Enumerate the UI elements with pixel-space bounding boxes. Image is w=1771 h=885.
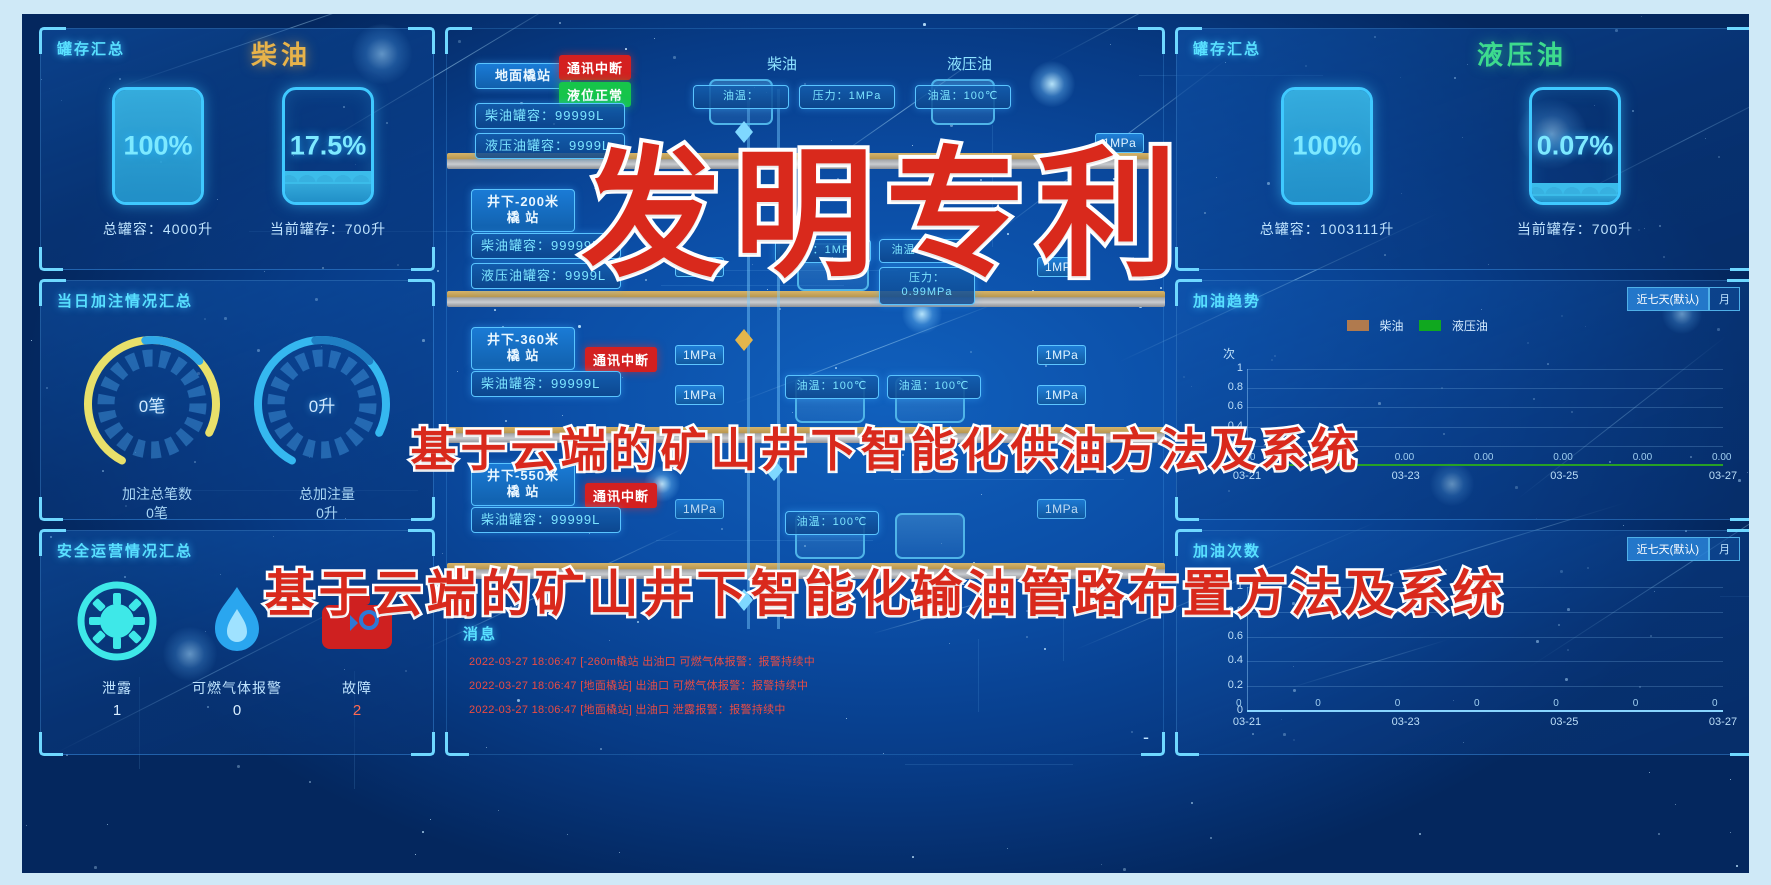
panel-diesel-tank-summary: 罐存汇总 柴油 100% 总罐容：4000升 17.5% 当前罐存：700升 <box>40 28 434 270</box>
gauge-diesel-total: 100% 总罐容：4000升 <box>83 87 233 239</box>
legend-swatch-diesel <box>1347 320 1369 331</box>
ring-caption-refuel-volume: 总加注量 0升 <box>247 485 407 523</box>
tank-graphic-diesel-total: 100% <box>112 87 204 205</box>
pressure-tag-6: 1MPa <box>675 385 724 405</box>
chart-point-label: 0 <box>1553 698 1559 709</box>
pressure-tag-9: 1MPa <box>1037 499 1086 519</box>
ring-graphic-refuel-count: 0笔 <box>77 329 227 479</box>
ring-caption-line1: 加注总笔数 <box>77 485 237 504</box>
range-option-seven-days-2[interactable]: 近七天(默认) <box>1627 537 1709 561</box>
tank-percent-diesel-current: 17.5% <box>285 131 371 162</box>
ring-caption-line1: 总加注量 <box>247 485 407 504</box>
watermark-patent-line2: 基于云端的矿山井下智能化输油管路布置方法及系统 <box>265 554 1507 626</box>
ring-value-refuel-count: 0笔 <box>77 329 227 479</box>
minimize-button[interactable]: - <box>1143 728 1149 746</box>
chart-point-label: 0 <box>1633 698 1639 709</box>
ring-caption-refuel-count: 加注总笔数 0笔 <box>77 485 237 523</box>
readout-360m-temp-a: 油温：100℃ <box>785 375 879 399</box>
dashboard-screen: 罐存汇总 柴油 100% 总罐容：4000升 17.5% 当前罐存：700升 当… <box>22 14 1749 873</box>
safety-item-leak[interactable]: 泄露 1 <box>57 579 177 719</box>
chart-point-label: 0 <box>1315 698 1321 709</box>
station-tank-360m-diesel: 柴油罐容：99999L <box>471 371 621 397</box>
message-line-1: 2022-03-27 18:06:47 [-260m橇站 出油口 可燃气体报警：… <box>469 653 815 669</box>
tank-graphic-diesel-current: 17.5% <box>282 87 374 205</box>
watermark-patent-main: 发明专利 <box>581 102 1189 304</box>
panel-today-refuel-summary: 当日加注情况汇总 0笔 加注总笔数 0笔 <box>40 280 434 520</box>
range-selector-trend[interactable]: 近七天(默认) 月 <box>1627 287 1740 311</box>
station-name-200m[interactable]: 井下-200米 橇 站 <box>471 189 575 232</box>
flow-label-hydraulic: 液压油 <box>947 53 992 74</box>
safety-value-gas-alarm: 0 <box>177 702 297 719</box>
chart-point-label: 0.00 <box>1395 452 1414 463</box>
gauge-refuel-count: 0笔 加注总笔数 0笔 <box>77 329 237 523</box>
tank-caption-hydraulic-total: 总罐容：1003111升 <box>1237 219 1417 239</box>
safety-label-gas-alarm: 可燃气体报警 <box>177 678 297 698</box>
tank-caption-diesel-total: 总罐容：4000升 <box>83 219 233 239</box>
safety-value-fault: 2 <box>297 702 417 719</box>
gauge-refuel-volume: 0升 总加注量 0升 <box>247 329 407 523</box>
range-option-month[interactable]: 月 <box>1709 287 1740 311</box>
tank-percent-diesel-total: 100% <box>115 131 201 162</box>
legend-item-diesel: 柴油 <box>1347 317 1403 335</box>
station-name-surface[interactable]: 地面橇站 <box>475 63 571 89</box>
safety-label-fault: 故障 <box>297 678 417 698</box>
chart-point-label: 0.00 <box>1633 452 1652 463</box>
chart-y-unit-trend: 次 <box>1223 345 1235 362</box>
chart-point-label: 0.00 <box>1553 452 1572 463</box>
chart-point-label: 0 <box>1474 698 1480 709</box>
pressure-tag-8: 1MPa <box>675 499 724 519</box>
legend-label-hydraulic: 液压油 <box>1452 319 1488 333</box>
station-badge-360m-comm: 通讯中断 <box>585 347 657 372</box>
panel-title-hydraulic-summary: 罐存汇总 <box>1193 38 1261 59</box>
ring-caption-line2: 0笔 <box>77 504 237 523</box>
chart-xtick-label: 03-21 <box>1225 716 1269 728</box>
station-badge-surface-comm: 通讯中断 <box>559 55 631 80</box>
station-name-360m[interactable]: 井下-360米 橇 站 <box>471 327 575 370</box>
tank-graphic-hydraulic-total: 100% <box>1281 87 1373 205</box>
chart-point-label: 0.00 <box>1712 452 1731 463</box>
legend-item-hydraulic: 液压油 <box>1419 317 1487 335</box>
chart-point-label: 0 <box>1712 698 1718 709</box>
tank-caption-diesel-current: 当前罐存：700升 <box>253 219 403 239</box>
tank-percent-hydraulic-current: 0.07% <box>1532 131 1618 162</box>
chart-point-label: 0 <box>1236 698 1242 709</box>
chart-xtick-label: 03-25 <box>1542 716 1586 728</box>
range-option-seven-days[interactable]: 近七天(默认) <box>1627 287 1709 311</box>
pressure-tag-4: 1MPa <box>675 345 724 365</box>
chart-xtick-label: 03-27 <box>1701 716 1745 728</box>
chart-xtick-label: 03-27 <box>1701 470 1745 482</box>
gear-leak-icon <box>75 579 159 663</box>
panel-title-today-refuel: 当日加注情况汇总 <box>57 290 193 311</box>
panel-title-diesel-summary: 罐存汇总 <box>57 38 125 59</box>
legend-swatch-hydraulic <box>1419 320 1441 331</box>
watermark-patent-line1: 基于云端的矿山井下智能化供油方法及系统 <box>411 414 1361 480</box>
tank-percent-hydraulic-total: 100% <box>1284 131 1370 162</box>
readout-550m-temp: 油温：100℃ <box>785 511 879 535</box>
chart-point-label: 0 <box>1395 698 1401 709</box>
safety-value-leak: 1 <box>57 702 177 719</box>
station-badge-550m-comm: 通讯中断 <box>585 483 657 508</box>
tank-caption-hydraulic-current: 当前罐存：700升 <box>1485 219 1665 239</box>
label-hydraulic: 液压油 <box>1477 35 1567 72</box>
chart-xtick-label: 03-25 <box>1542 470 1586 482</box>
pressure-tag-5: 1MPa <box>1037 345 1086 365</box>
safety-label-leak: 泄露 <box>57 678 177 698</box>
panel-hydraulic-tank-summary: 罐存汇总 液压油 100% 总罐容：1003111升 0.07% 当前罐存：70… <box>1176 28 1749 270</box>
ring-graphic-refuel-volume: 0升 <box>247 329 397 479</box>
range-selector-count[interactable]: 近七天(默认) 月 <box>1627 537 1740 561</box>
gauge-diesel-current: 17.5% 当前罐存：700升 <box>253 87 403 239</box>
chart-xtick-label: 03-23 <box>1384 716 1428 728</box>
chart-xtick-label: 03-23 <box>1384 470 1428 482</box>
gauge-hydraulic-total: 100% 总罐容：1003111升 <box>1237 87 1417 239</box>
range-option-month-2[interactable]: 月 <box>1709 537 1740 561</box>
chart-legend-trend: 柴油 液压油 <box>1347 317 1488 335</box>
legend-label-diesel: 柴油 <box>1379 319 1403 333</box>
messages-title: 消息 <box>463 623 497 644</box>
tank-graphic-hydraulic-current: 0.07% <box>1529 87 1621 205</box>
panel-refuel-trend-chart: 加油趋势 近七天(默认) 月 柴油 液压油 次 00.20.40.60.810.… <box>1176 280 1749 520</box>
flow-label-diesel: 柴油 <box>767 53 797 74</box>
ring-caption-line2: 0升 <box>247 504 407 523</box>
outer-frame: 罐存汇总 柴油 100% 总罐容：4000升 17.5% 当前罐存：700升 当… <box>0 0 1771 885</box>
message-line-2: 2022-03-27 18:06:47 [地面橇站] 出油口 可燃气体报警：报警… <box>469 677 808 693</box>
panel-title-refuel-trend: 加油趋势 <box>1193 290 1261 311</box>
panel-title-safety: 安全运营情况汇总 <box>57 540 193 561</box>
pressure-tag-7: 1MPa <box>1037 385 1086 405</box>
ring-value-refuel-volume: 0升 <box>247 329 397 479</box>
message-line-3: 2022-03-27 18:06:47 [地面橇站] 出油口 泄露报警：报警持续… <box>469 701 786 717</box>
gauge-hydraulic-current: 0.07% 当前罐存：700升 <box>1485 87 1665 239</box>
station-tank-550m-diesel: 柴油罐容：99999L <box>471 507 621 533</box>
label-diesel: 柴油 <box>251 35 311 72</box>
device-tank-550m-b <box>895 513 965 559</box>
chart-point-label: 0.00 <box>1474 452 1493 463</box>
readout-360m-temp-b: 油温：100℃ <box>887 375 981 399</box>
